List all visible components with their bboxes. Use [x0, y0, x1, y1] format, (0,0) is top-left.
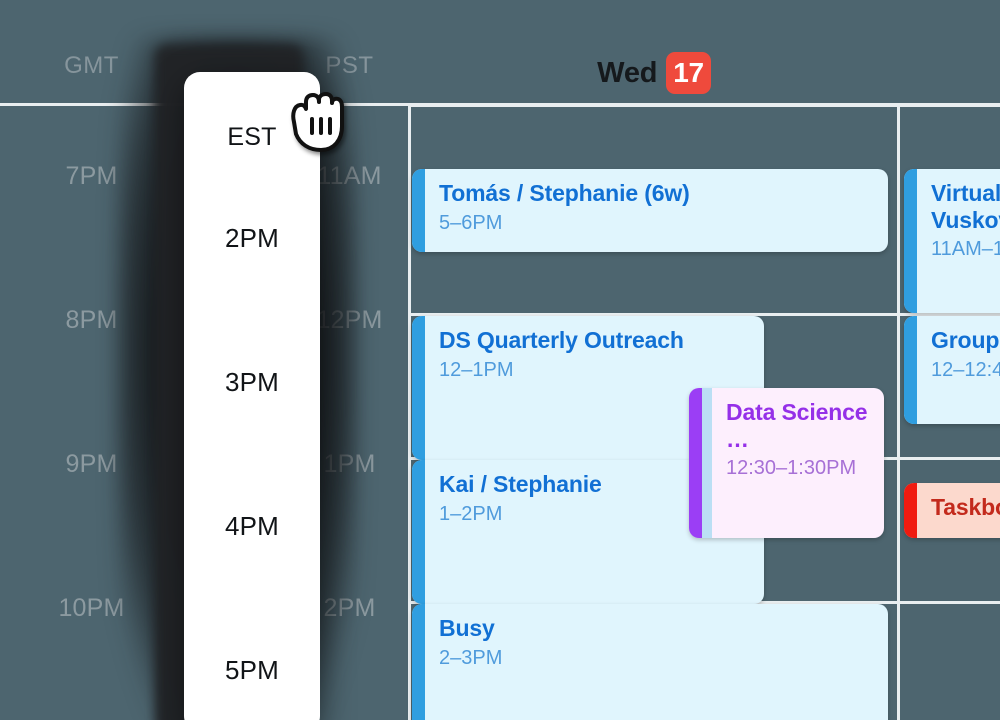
event-time: 2–3PM [439, 645, 888, 671]
event-title: Tomás / Stephanie (6w) [439, 180, 888, 207]
event-title: Taskbo [931, 494, 1000, 521]
event-card-virtual-vuskovic[interactable]: Virtual Vuskov 11AM–12 [904, 169, 1000, 313]
event-accent-stripe [412, 460, 425, 604]
day-name-label: Wed [597, 57, 657, 90]
dragged-time-slot-2: 4PM [184, 511, 320, 541]
event-accent-stripe [904, 483, 917, 538]
event-accent-stripe-secondary [702, 388, 712, 538]
event-accent-stripe [904, 316, 917, 424]
event-card-busy[interactable]: Busy 2–3PM [412, 604, 888, 720]
event-time: 12–1PM [439, 357, 764, 383]
event-card-taskboard[interactable]: Taskbo [904, 483, 1000, 538]
grid-row-line-0 [408, 104, 1000, 107]
event-title: Virtual Vuskov [931, 180, 1000, 233]
grab-hand-cursor [288, 92, 346, 154]
day-header-wed[interactable]: Wed 17 [408, 50, 900, 96]
event-title: DS Quarterly Outreach [439, 327, 764, 354]
event-body: Tomás / Stephanie (6w) 5–6PM [425, 169, 888, 252]
grid-column-line-left [408, 104, 411, 720]
event-time: 12:30–1:30PM [726, 455, 884, 481]
event-accent-stripe [412, 169, 425, 252]
dragged-time-slot-0: 2PM [184, 223, 320, 253]
calendar-grid: Tomás / Stephanie (6w) 5–6PM DS Quarterl… [408, 104, 1000, 720]
event-time: 12–12:45 [931, 357, 1000, 383]
event-accent-stripe [412, 316, 425, 460]
event-card-tomas-stephanie[interactable]: Tomás / Stephanie (6w) 5–6PM [412, 169, 888, 252]
event-title: Data Science … [726, 399, 884, 452]
dragged-time-slot-1: 3PM [184, 367, 320, 397]
event-body: Taskbo [917, 483, 1000, 538]
dragged-time-slot-3: 5PM [184, 655, 320, 685]
event-body: Group 12–12:45 [917, 316, 1000, 424]
grid-column-line-right [897, 104, 900, 720]
calendar-week-view: GMT PST Wed 17 7PM 8PM 9PM 10PM 11AM 12P… [0, 0, 1000, 720]
event-time: 11AM–12 [931, 236, 1000, 262]
event-body: Virtual Vuskov 11AM–12 [917, 169, 1000, 313]
event-title: Busy [439, 615, 888, 642]
event-title: Group [931, 327, 1000, 354]
event-accent-stripe-primary [689, 388, 702, 538]
event-accent-stripe [412, 604, 425, 720]
event-body: Busy 2–3PM [425, 604, 888, 720]
event-time: 5–6PM [439, 210, 888, 236]
event-body: Data Science … 12:30–1:30PM [712, 388, 884, 538]
dragged-timezone-column-est[interactable]: EST 2PM 3PM 4PM 5PM [184, 72, 320, 720]
event-card-group[interactable]: Group 12–12:45 [904, 316, 1000, 424]
event-accent-stripe [904, 169, 917, 313]
event-card-data-science[interactable]: Data Science … 12:30–1:30PM [689, 388, 884, 538]
day-number-badge: 17 [666, 52, 711, 94]
